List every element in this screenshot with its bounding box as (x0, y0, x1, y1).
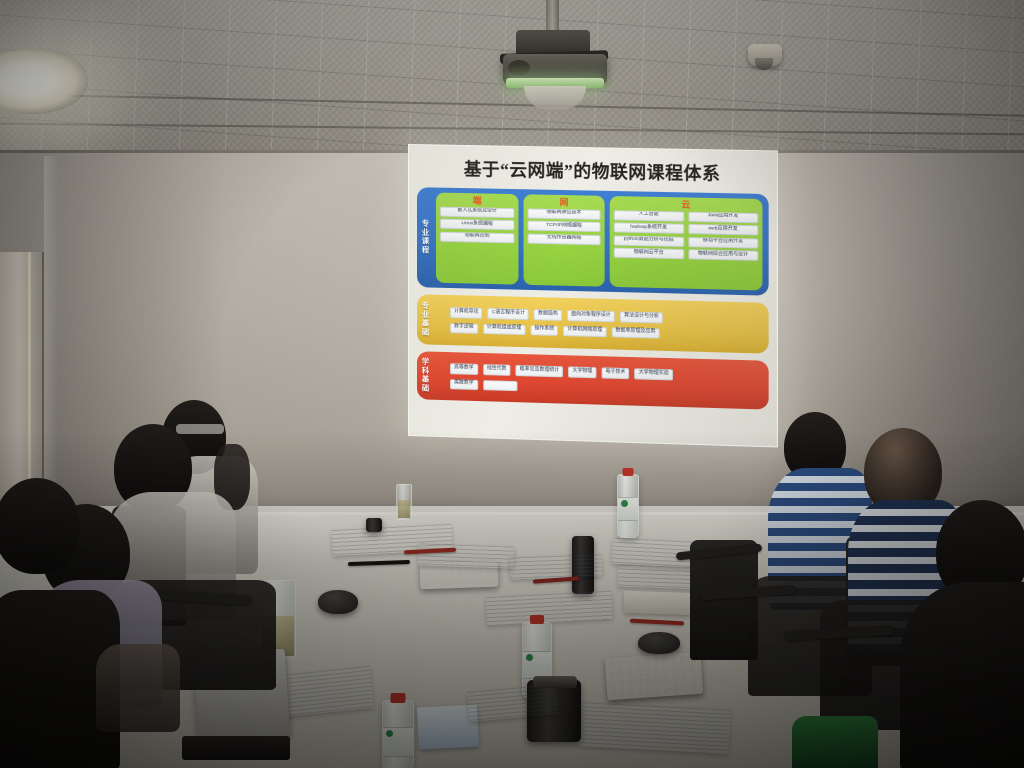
course-chip: python数据分析与挖掘 (614, 235, 684, 247)
slide-content: 基于“云网端”的物联网课程体系 专业课程 端 嵌入式系统及设计 Linux系统编… (417, 152, 769, 438)
projector-pole (546, 0, 559, 32)
band-professional-foundation: 专业基础 计算机导论 C语言程序设计 数据结构 面向对象程序设计 算法设计与分析… (417, 294, 769, 353)
bottle-cap (530, 615, 544, 624)
course-chip: 高等数学 (450, 363, 478, 374)
water-bottle-back (617, 474, 639, 538)
course-chip: 物联网通信技术 (528, 208, 601, 220)
bottle-logo-icon (386, 730, 393, 737)
head (0, 478, 80, 574)
documents (579, 702, 731, 754)
course-chip: 数字逻辑 (450, 323, 478, 334)
bottle-label (383, 727, 413, 757)
bottle-label (618, 497, 638, 521)
course-chip: TCP/IP网络编程 (528, 221, 601, 233)
column-items: 人工智能 hadoop系统开发 python数据分析与挖掘 物联网云平台 Jav… (614, 210, 759, 287)
course-chip: 无线传感器网络 (528, 233, 601, 245)
course-row: 离散数学 (450, 379, 762, 398)
documents (510, 554, 603, 579)
thermos-flask (366, 518, 382, 532)
column-head-network: 网 (528, 197, 601, 207)
band-label-professional-foundation: 专业基础 (417, 294, 434, 344)
course-chip: 面向对象程序设计 (567, 310, 615, 322)
course-chip: 操作系统 (530, 325, 558, 336)
course-chip: 物联网综合应用与设计 (688, 249, 758, 261)
course-chip: Java应用开发 (688, 211, 758, 223)
column-items: 嵌入式系统及设计 Linux系统编程 物联网控制 (440, 206, 514, 280)
projection-screen: 基于“云网端”的物联网课程体系 专业课程 端 嵌入式系统及设计 Linux系统编… (408, 144, 778, 447)
band-body: 端 嵌入式系统及设计 Linux系统编程 物联网控制 网 (434, 188, 769, 296)
laptop-base (182, 736, 290, 760)
course-chip: 大学物理 (568, 367, 596, 378)
course-chip: 计算机网络原理 (563, 325, 606, 336)
course-chip: 物联网控制 (440, 231, 514, 243)
course-list: 人工智能 hadoop系统开发 python数据分析与挖掘 物联网云平台 (614, 210, 684, 285)
course-chip: 移动平台应用开发 (688, 237, 758, 249)
course-chip: 嵌入式系统及设计 (440, 206, 514, 218)
bottle-cap (623, 468, 634, 476)
course-chip: 大学物理实验 (635, 368, 673, 379)
tea-glass-left (396, 484, 412, 520)
water-bottle-corner (382, 700, 414, 768)
course-chip-blank (483, 380, 517, 391)
course-chip: 数据库原理及应用 (611, 327, 659, 339)
course-chip: 人工智能 (614, 210, 684, 222)
course-chip: 计算机组成原理 (483, 323, 526, 334)
band-discipline-foundation: 学科基础 高等数学 线性代数 概率论及数理统计 大学物理 电子技术 大学物理实验 (417, 351, 769, 409)
course-chip: web应用开发 (688, 224, 758, 236)
course-chip: 算法设计与分析 (620, 312, 663, 323)
keyboard-center (420, 561, 499, 590)
notebook (624, 591, 701, 616)
course-chip: 概率论及数理统计 (516, 365, 564, 377)
bottle-logo-icon (526, 654, 533, 661)
column-cloud: 云 人工智能 hadoop系统开发 python数据分析与挖掘 物联网云平台 J… (610, 196, 763, 290)
bottle-label (523, 651, 551, 679)
band-body: 高等数学 线性代数 概率论及数理统计 大学物理 电子技术 大学物理实验 离散数学 (434, 352, 769, 410)
projector-vent (508, 60, 530, 76)
torso (900, 582, 1024, 768)
course-list: Java应用开发 web应用开发 移动平台应用开发 物联网综合应用与设计 (688, 211, 758, 286)
course-row: 数字逻辑 计算机组成原理 操作系统 计算机网络原理 数据库原理及应用 (450, 323, 762, 341)
smoke-detector-icon (748, 44, 782, 66)
course-chip: C语言程序设计 (488, 308, 529, 319)
mouse-right (638, 632, 680, 654)
course-chip: Linux系统编程 (440, 219, 514, 231)
column-head-edge: 端 (440, 196, 514, 206)
course-chip: 电子技术 (601, 368, 629, 379)
bottle-cap (391, 693, 406, 703)
column-network: 网 物联网通信技术 TCP/IP网络编程 无线传感器网络 (524, 194, 605, 286)
eyeglasses-icon (176, 424, 224, 434)
course-chip: 数据结构 (534, 309, 562, 320)
course-list: 嵌入式系统及设计 Linux系统编程 物联网控制 (440, 206, 514, 280)
slide-title: 基于“云网端”的物联网课程体系 (417, 155, 769, 187)
band-body: 计算机导论 C语言程序设计 数据结构 面向对象程序设计 算法设计与分析 数字逻辑… (434, 295, 769, 354)
course-rows: 计算机导论 C语言程序设计 数据结构 面向对象程序设计 算法设计与分析 数字逻辑… (436, 300, 762, 349)
column-edge: 端 嵌入式系统及设计 Linux系统编程 物联网控制 (436, 193, 518, 285)
course-rows: 高等数学 线性代数 概率论及数理统计 大学物理 电子技术 大学物理实验 离散数学 (436, 357, 762, 405)
course-chip: 计算机导论 (450, 307, 483, 318)
arm (96, 644, 180, 732)
course-chip: 物联网云平台 (614, 248, 684, 260)
course-chip: hadoop系统开发 (614, 222, 684, 234)
column-head-cloud: 云 (614, 199, 759, 211)
band-professional-courses: 专业课程 端 嵌入式系统及设计 Linux系统编程 物联网控制 (417, 187, 769, 296)
band-label-discipline-foundation: 学科基础 (417, 351, 434, 400)
conference-room-photo: 基于“云网端”的物联网课程体系 专业课程 端 嵌入式系统及设计 Linux系统编… (0, 0, 1024, 768)
band-label-professional-courses: 专业课程 (417, 187, 434, 287)
course-chip: 离散数学 (450, 379, 478, 390)
tea-liquid (398, 500, 410, 518)
course-list: 物联网通信技术 TCP/IP网络编程 无线传感器网络 (528, 208, 601, 283)
sleeve-green (792, 716, 878, 768)
column-items: 物联网通信技术 TCP/IP网络编程 无线传感器网络 (528, 208, 601, 283)
bottle-logo-icon (621, 500, 628, 507)
course-chip: 线性代数 (483, 364, 511, 375)
